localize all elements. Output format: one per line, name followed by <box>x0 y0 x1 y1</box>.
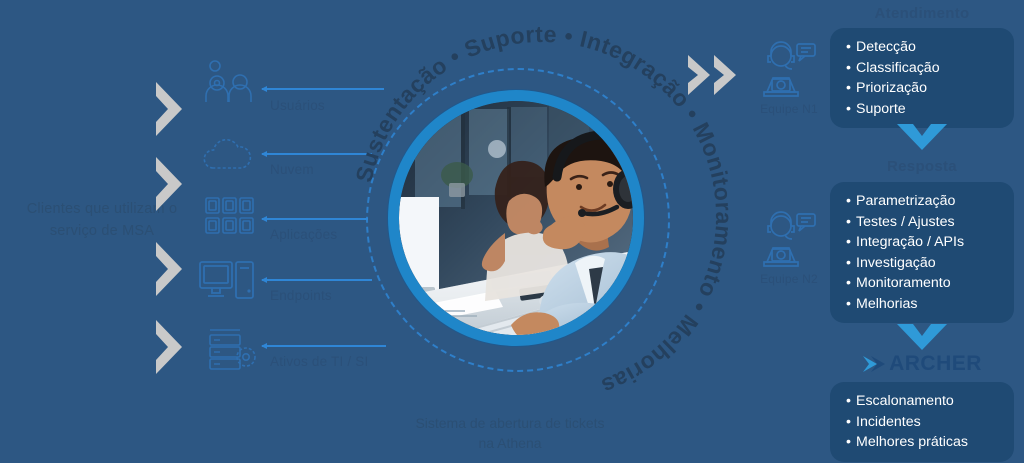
team-n2: Equipe N2 <box>744 208 834 286</box>
list-item: Classificação <box>846 58 1014 79</box>
bottom-caption-line2: na Athena <box>380 433 640 453</box>
list-item: Suporte <box>846 99 1014 120</box>
cloud-icon <box>200 136 256 176</box>
support-agent-icon <box>759 38 819 100</box>
archer-logo: ARCHER <box>820 352 1024 376</box>
section-title-resposta: Resposta <box>820 158 1024 175</box>
section-title-atendimento: Atendimento <box>820 5 1024 22</box>
label-usuarios: Usuários <box>270 98 325 113</box>
support-agent-icon <box>759 208 819 270</box>
flow-chevron-4 <box>152 318 186 376</box>
chevron-down-icon-2 <box>895 322 949 352</box>
infographic-canvas: Clientes que utilizam o serviço de MSA <box>0 0 1024 463</box>
label-aplicacoes: Aplicações <box>270 227 337 242</box>
list-item: Investigação <box>846 253 1014 274</box>
users-icon <box>200 58 256 106</box>
team-n2-label: Equipe N2 <box>744 272 834 286</box>
team-n1: Equipe N1 <box>744 38 834 116</box>
connector-line-usuarios <box>262 88 384 90</box>
list-item: Incidentes <box>846 412 1014 433</box>
list-item: Detecção <box>846 37 1014 58</box>
label-nuvem: Nuvem <box>270 162 314 177</box>
label-ativos-ti: Ativos de TI / SI <box>270 354 368 369</box>
archer-arrow-icon <box>862 354 888 374</box>
flow-chevron-2 <box>152 155 186 213</box>
list-item: Monitoramento <box>846 273 1014 294</box>
list-item: Melhores práticas <box>846 432 1014 453</box>
call-center-photo <box>399 101 633 335</box>
connector-line-nuvem <box>262 153 372 155</box>
panel-atendimento: Detecção Classificação Priorização Supor… <box>830 28 1014 128</box>
bottom-caption: Sistema de abertura de tickets na Athena <box>380 413 640 453</box>
connector-line-ativos <box>262 345 386 347</box>
panel-resposta: Parametrização Testes / Ajustes Integraç… <box>830 182 1014 323</box>
list-item: Melhorias <box>846 294 1014 315</box>
server-gear-icon <box>204 326 262 374</box>
double-chevron-right-icon <box>686 52 742 98</box>
list-item: Escalonamento <box>846 391 1014 412</box>
archer-wordmark: ARCHER <box>889 352 982 376</box>
flow-chevron-1 <box>152 80 186 138</box>
panel-archer: Escalonamento Incidentes Melhores prátic… <box>830 382 1014 462</box>
desktop-computer-icon <box>198 258 256 304</box>
chevron-down-icon-1 <box>895 122 949 152</box>
team-n1-label: Equipe N1 <box>744 102 834 116</box>
flow-chevron-3 <box>152 240 186 298</box>
connector-line-aplicacoes <box>262 218 368 220</box>
list-item: Integração / APIs <box>846 232 1014 253</box>
list-item: Priorização <box>846 78 1014 99</box>
bottom-caption-line1: Sistema de abertura de tickets <box>380 413 640 433</box>
label-endpoints: Endpoints <box>270 288 332 303</box>
apps-grid-icon <box>204 196 256 238</box>
connector-line-endpoints <box>262 279 372 281</box>
list-item: Parametrização <box>846 191 1014 212</box>
list-item: Testes / Ajustes <box>846 212 1014 233</box>
